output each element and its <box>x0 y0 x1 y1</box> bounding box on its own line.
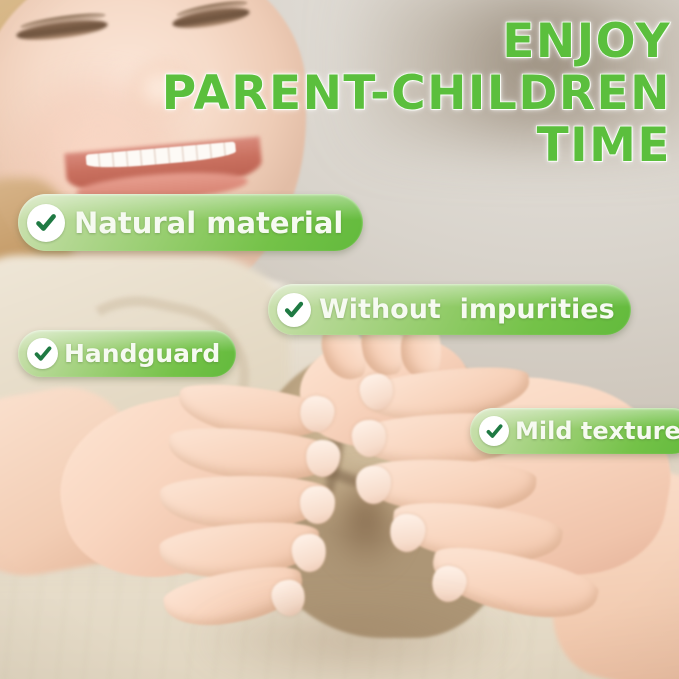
check-circle-icon <box>27 338 58 369</box>
feature-pill-handguard[interactable]: Handguard <box>18 330 236 377</box>
check-circle-icon <box>479 416 509 446</box>
product-feature-banner: ENJOY PARENT-CHILDREN TIME Natural mater… <box>0 0 679 679</box>
check-circle-icon <box>277 293 311 327</box>
feature-pill-mild-texture[interactable]: Mild texture <box>470 408 679 454</box>
feature-label: Mild texture <box>515 417 679 445</box>
feature-pill-natural-material[interactable]: Natural material <box>18 194 363 251</box>
feature-pill-without-impurities[interactable]: Without impurities <box>268 284 631 335</box>
headline-text: ENJOY PARENT-CHILDREN TIME <box>0 16 679 172</box>
check-circle-icon <box>27 204 65 242</box>
feature-label: Natural material <box>74 206 343 240</box>
feature-label: Handguard <box>64 339 220 368</box>
feature-label: Without impurities <box>319 294 615 325</box>
